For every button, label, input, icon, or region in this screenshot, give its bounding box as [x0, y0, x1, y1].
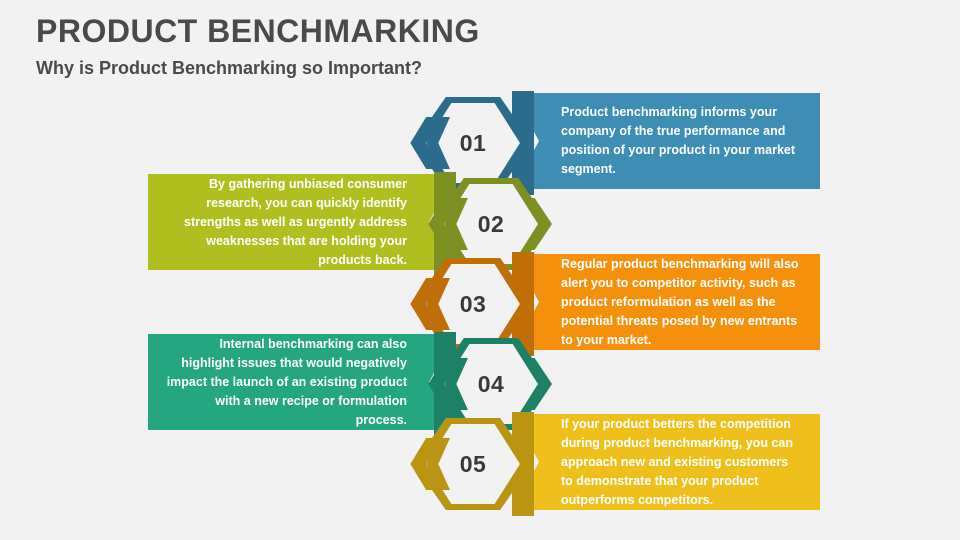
step-description: Product benchmarking informs your compan…: [561, 103, 802, 179]
step-row: If your product betters the competition …: [0, 414, 960, 514]
step-panel-05[interactable]: If your product betters the competition …: [513, 414, 820, 510]
slide-header: PRODUCT BENCHMARKING Why is Product Benc…: [36, 14, 480, 79]
page-subtitle: Why is Product Benchmarking so Important…: [36, 58, 480, 79]
step-badge-05[interactable]: 05: [400, 412, 550, 516]
step-description: If your product betters the competition …: [561, 415, 802, 510]
step-number: 01: [426, 103, 520, 183]
step-number: 05: [426, 424, 520, 504]
page-title: PRODUCT BENCHMARKING: [36, 14, 480, 49]
slide-canvas: PRODUCT BENCHMARKING Why is Product Benc…: [0, 0, 960, 540]
